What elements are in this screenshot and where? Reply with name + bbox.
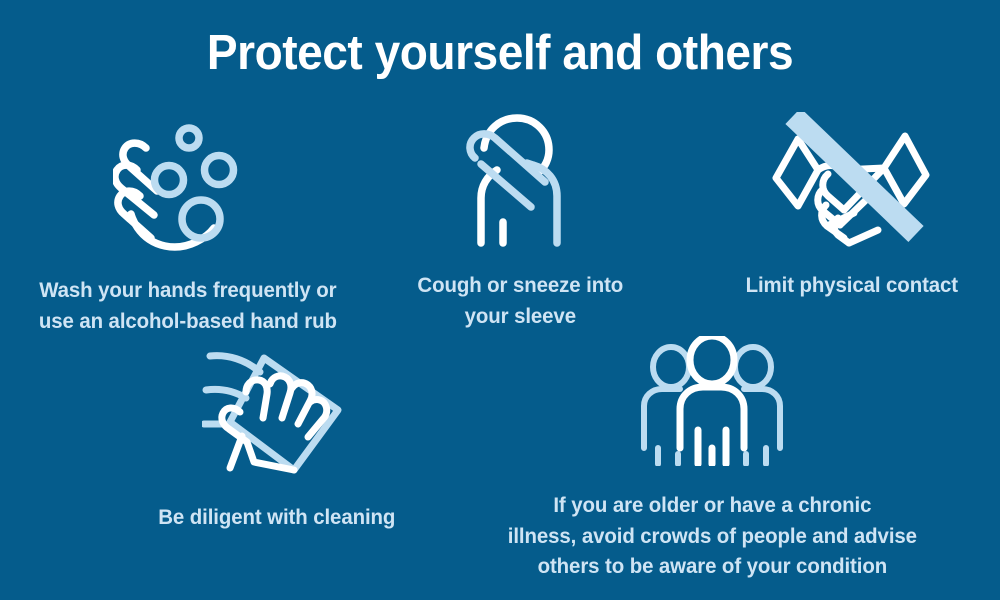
tip-card-avoid-crowds: If you are older or have a chronic illne… [462, 336, 962, 582]
tip-caption: Limit physical contact [746, 270, 958, 301]
tip-card-limit-contact: Limit physical contact [712, 112, 992, 301]
infographic-poster: Protect yourself and others Wash your ha… [0, 0, 1000, 600]
person-coughing-into-sleeve-icon [459, 112, 581, 250]
group-of-three-people-icon [638, 336, 786, 466]
tip-card-cleaning: Be diligent with cleaning [132, 344, 422, 533]
page-title: Protect yourself and others [30, 26, 970, 81]
tip-caption: Wash your hands frequently or use an alc… [39, 275, 337, 336]
hand-wiping-cloth-icon [202, 344, 352, 478]
no-handshake-icon [766, 112, 938, 248]
tip-card-cough-sneeze: Cough or sneeze into your sleeve [392, 112, 648, 331]
tip-card-wash-hands: Wash your hands frequently or use an alc… [8, 118, 368, 336]
tip-caption: Cough or sneeze into your sleeve [417, 270, 623, 331]
tip-caption: Be diligent with cleaning [158, 502, 395, 533]
hand-washing-soap-bubbles-icon [113, 118, 263, 253]
tip-caption: If you are older or have a chronic illne… [507, 490, 916, 582]
